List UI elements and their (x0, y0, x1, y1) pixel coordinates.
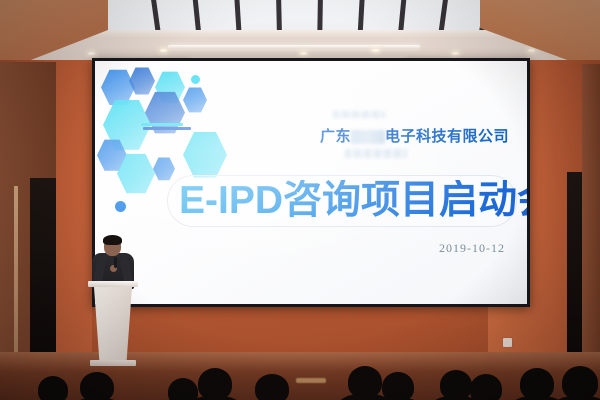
doorway-right (567, 172, 582, 360)
light-switch-plate[interactable] (503, 338, 512, 347)
ceiling-downlight (300, 52, 307, 55)
slide-title: E-IPD咨询项目启动会 (179, 180, 527, 222)
ceiling-downlight (528, 49, 535, 52)
ceiling-beam (234, 0, 242, 34)
slide-date: 2019-10-12 (439, 241, 505, 256)
ceiling-beam (437, 0, 449, 34)
redaction-mark-top (333, 111, 385, 118)
hexagon-shape (153, 157, 175, 181)
ceiling-beam (276, 0, 282, 34)
company-name: 广东电子科技有限公司 (320, 125, 509, 146)
ceiling-beam (317, 0, 323, 34)
ceiling-beam (150, 0, 162, 34)
podium-top-surface (88, 281, 138, 287)
doorway-left (30, 178, 56, 360)
podium-base (90, 360, 136, 366)
floor-marking (296, 378, 326, 383)
audience-member-head (562, 366, 598, 400)
ceiling-downlight (88, 52, 95, 55)
ceiling-beam (357, 0, 365, 34)
ceiling-beam (192, 0, 202, 34)
dot-accent (115, 201, 126, 212)
door-jamb-right (582, 64, 600, 360)
company-name-redacted (351, 130, 385, 144)
company-name-suffix: 电子科技有限公司 (385, 128, 509, 145)
accent-bar-top (141, 123, 183, 126)
ceiling-beam (397, 0, 407, 34)
audience-member-head (470, 374, 502, 400)
audience-member-head (168, 378, 198, 400)
door-edge-highlight-left (14, 186, 18, 360)
dot-accent (191, 75, 200, 84)
ceiling-light-strip-1 (168, 45, 420, 49)
redaction-mark-bottom (345, 149, 407, 158)
ceiling-downlight (452, 52, 459, 55)
company-name-prefix: 广东 (320, 128, 351, 145)
speaker-hair (103, 235, 122, 245)
conference-photo: 广东电子科技有限公司 E-IPD咨询项目启动会 2019-10-12 (0, 0, 600, 400)
accent-bar-bottom (143, 127, 191, 130)
audience-member-head (382, 372, 414, 400)
hexagon-shape (183, 131, 227, 179)
ceiling-downlight (372, 49, 379, 52)
audience-member-head (38, 376, 68, 400)
projected-slide: 广东电子科技有限公司 E-IPD咨询项目启动会 2019-10-12 (95, 61, 527, 304)
projection-screen-frame: 广东电子科技有限公司 E-IPD咨询项目启动会 2019-10-12 (92, 58, 530, 307)
audience-member-head (255, 374, 289, 400)
ceiling-downlight (160, 49, 167, 52)
hexagon-shape (183, 87, 207, 113)
microphone (114, 257, 117, 268)
audience-member-head (80, 372, 114, 400)
